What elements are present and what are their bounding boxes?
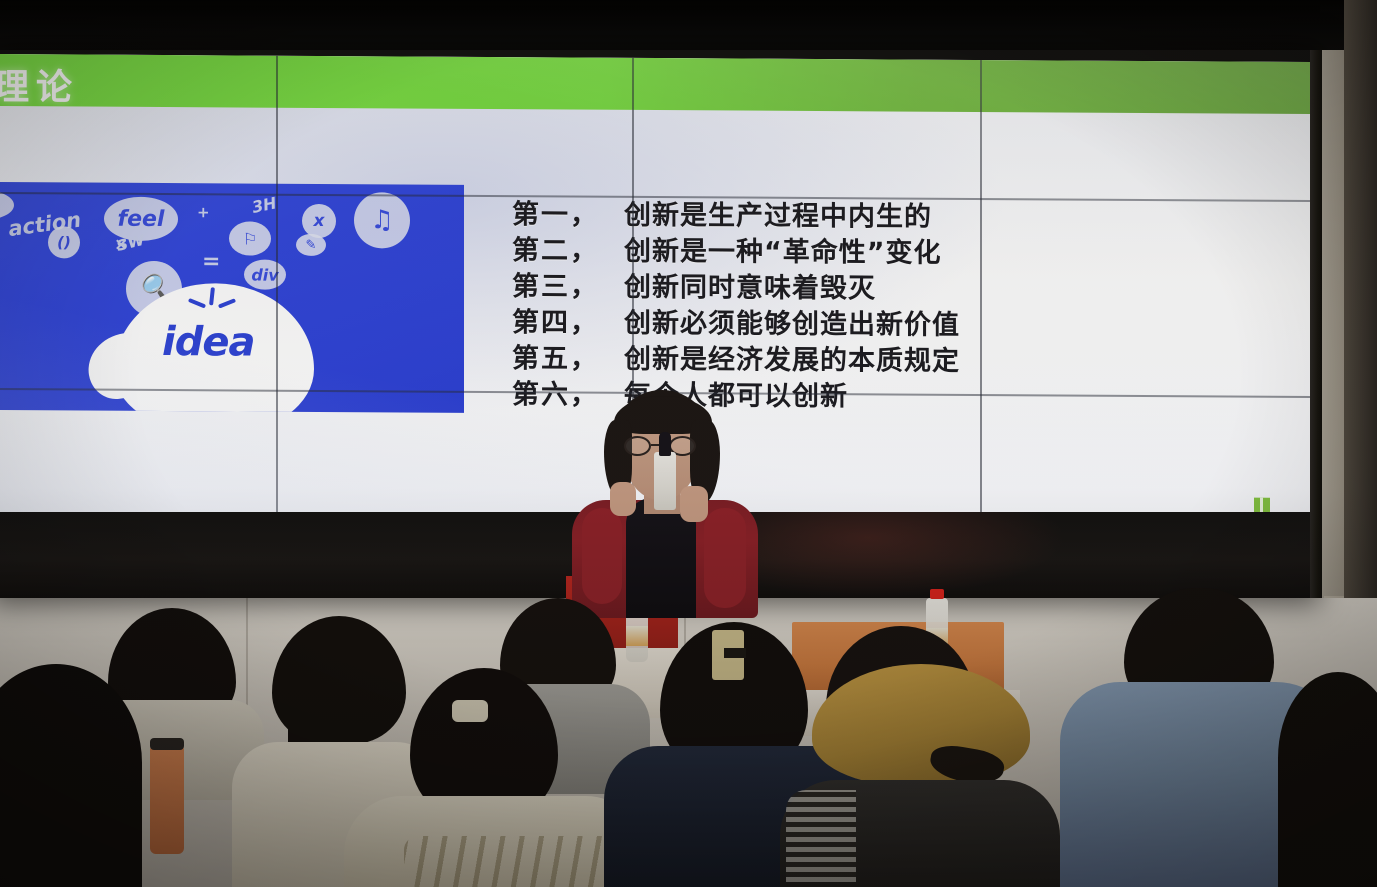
idea-word: idea <box>162 319 254 366</box>
thermos-lid <box>150 738 184 750</box>
bullet-index: 第一， <box>512 197 624 234</box>
bullet-row: 第五， 创新是经济发展的本质规定 <box>512 341 1112 381</box>
bullet-row: 第四， 创新必须能够创造出新价值 <box>512 305 1112 345</box>
bookmark-icon: ⚐ <box>229 221 271 255</box>
slide-bullet-list: 第一， 创新是生产过程中内生的 第二， 创新是一种“革命性”变化 第三， 创新同… <box>512 197 1112 417</box>
bottle-cap <box>930 589 944 599</box>
bullet-index: 第五， <box>512 341 624 378</box>
pencil-icon: ✎ <box>296 234 326 256</box>
presenter-hand-left <box>610 482 636 516</box>
bullet-row: 第一， 创新是生产过程中内生的 <box>512 197 1112 237</box>
bullet-text: 创新是生产过程中内生的 <box>624 198 932 236</box>
bullet-text: 创新是一种“革命性”变化 <box>624 234 942 272</box>
bullet-index: 第三， <box>512 269 624 306</box>
label-equals: = <box>202 249 220 274</box>
presenter <box>558 390 768 615</box>
music-note-icon: ♫ <box>354 192 410 248</box>
label-multiply: × <box>114 235 128 255</box>
bullet-text: 创新是经济发展的本质规定 <box>624 342 960 380</box>
jacket-script-graphic <box>404 836 614 887</box>
bottle-label <box>626 626 648 646</box>
list-item <box>0 664 142 887</box>
bullet-text: 创新必须能够创造出新价值 <box>624 306 960 344</box>
hair-clip-detail <box>724 648 746 658</box>
label-div: div <box>244 260 286 290</box>
list-item <box>1278 672 1377 887</box>
idea-illustration: — action feel + 3H x ♫ () sw ⚐ ✎ = div 🔍 <box>0 182 464 413</box>
label-plus: + <box>197 203 210 221</box>
parenthesis-icon: () <box>48 226 80 258</box>
bezel-seam-vertical <box>980 60 982 522</box>
label-3h: 3H <box>250 193 278 217</box>
patterned-garment <box>786 790 856 882</box>
presenter-hand-right <box>680 486 708 522</box>
right-dark-wall <box>1344 0 1377 598</box>
wall-pillar <box>1322 50 1344 598</box>
bullet-row: 第三， 创新同时意味着毁灭 <box>512 269 1112 309</box>
lecture-hall-scene: 新理论 — action feel + 3H x ♫ () sw ⚐ ✎ = <box>0 0 1377 887</box>
bezel-seam-vertical <box>276 56 278 518</box>
video-wall-reflection <box>736 512 1066 598</box>
slide-title: 新理论 <box>0 58 79 111</box>
ceiling-strip <box>0 0 1377 54</box>
presenter-arm-left <box>582 508 622 604</box>
hair-tie <box>452 700 488 722</box>
presenter-arm-right <box>704 508 746 608</box>
bullet-text: 创新同时意味着毁灭 <box>624 270 876 308</box>
bullet-row: 第二， 创新是一种“革命性”变化 <box>512 233 1112 273</box>
bullet-index: 第四， <box>512 305 624 342</box>
slide-title-bar <box>0 54 1310 114</box>
microphone <box>654 452 676 510</box>
thermos-bottle <box>150 744 184 854</box>
bullet-index: 第二， <box>512 233 624 270</box>
label-x: x <box>302 204 336 238</box>
